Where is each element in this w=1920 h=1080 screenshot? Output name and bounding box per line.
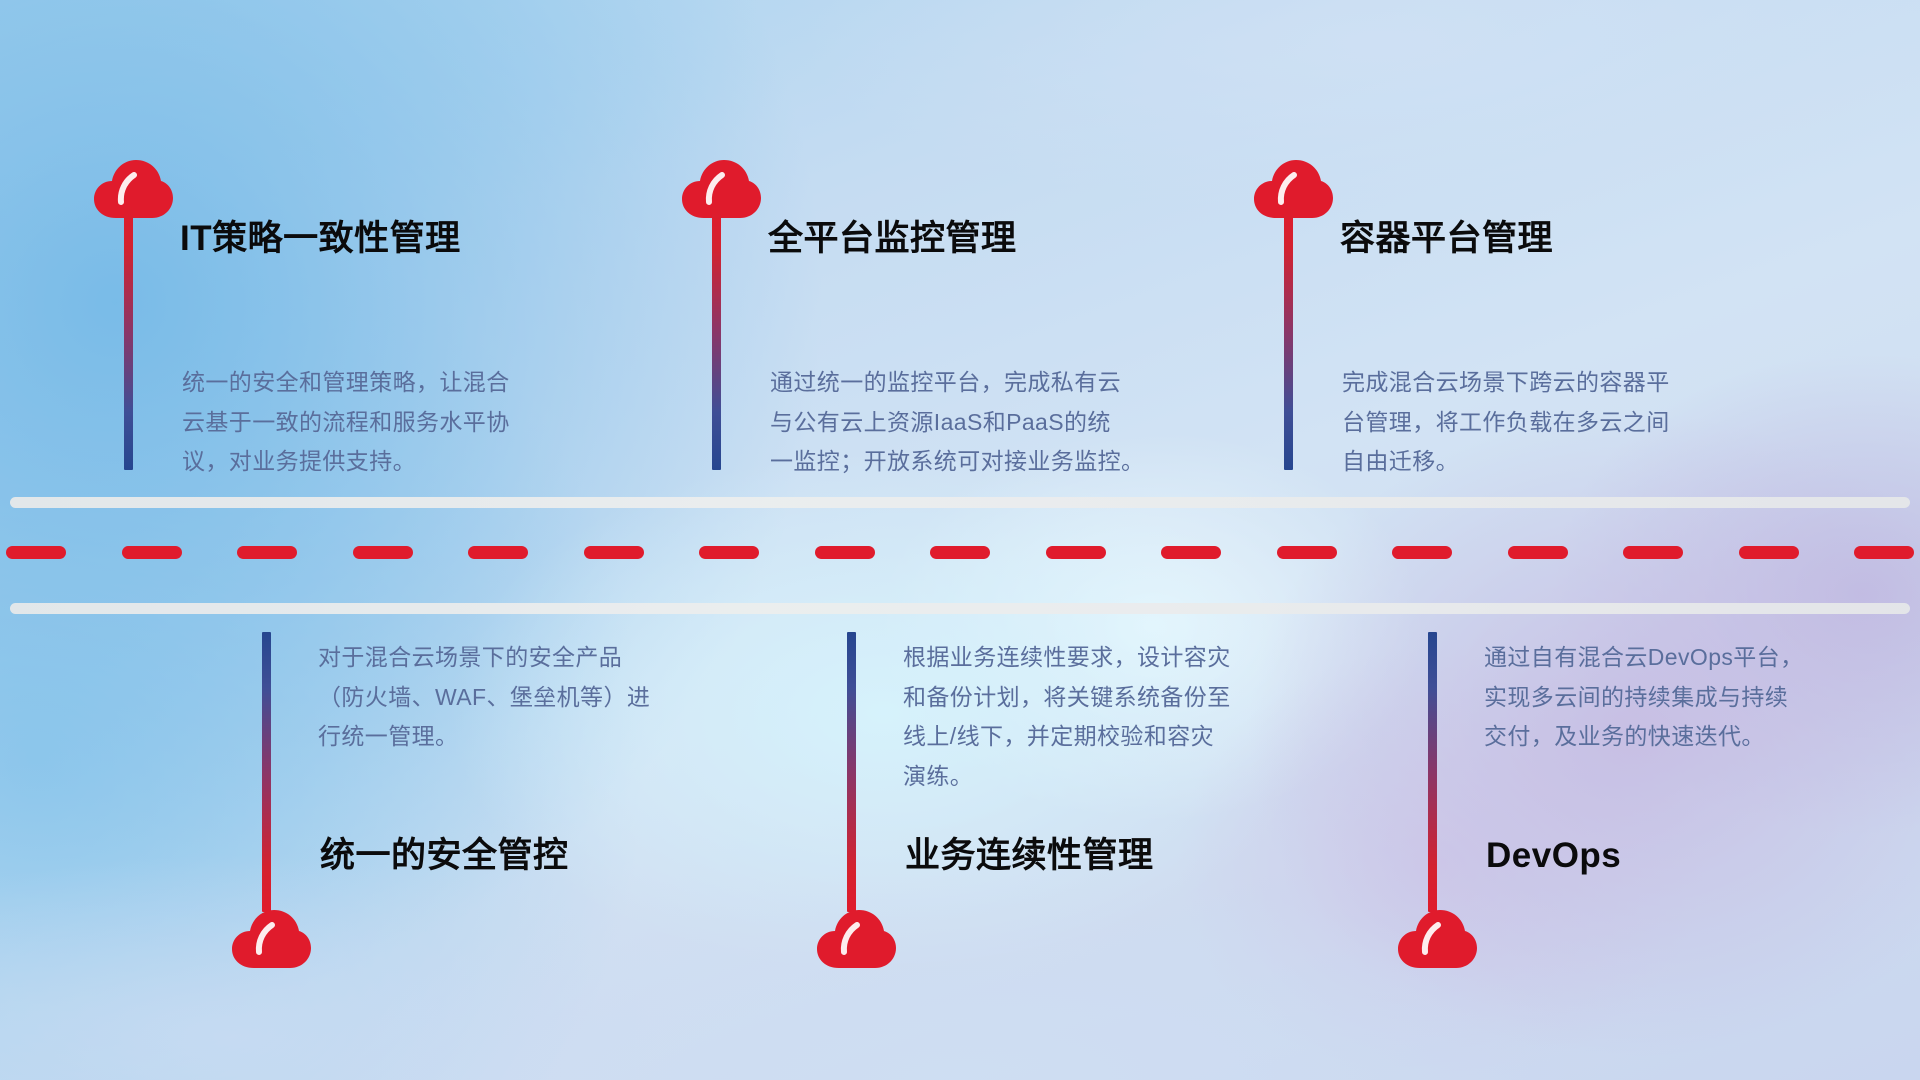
column-title: 统一的安全管控 bbox=[320, 835, 569, 877]
divider-rail-top bbox=[10, 497, 1910, 508]
connector-stem bbox=[124, 205, 133, 470]
divider-dash bbox=[584, 546, 644, 559]
divider-dashed-line bbox=[0, 545, 1920, 559]
divider-dash bbox=[353, 546, 413, 559]
divider-dash bbox=[1161, 546, 1221, 559]
connector-stem bbox=[712, 205, 721, 470]
connector-stem bbox=[1428, 632, 1437, 912]
connector-stem bbox=[847, 632, 856, 912]
divider-dash bbox=[468, 546, 528, 559]
divider-dash bbox=[122, 546, 182, 559]
connector-stem bbox=[262, 632, 271, 912]
column-title: IT策略一致性管理 bbox=[180, 218, 461, 260]
divider-dash bbox=[6, 546, 66, 559]
divider-dash bbox=[1623, 546, 1683, 559]
column-title: 全平台监控管理 bbox=[768, 218, 1017, 260]
divider-dash bbox=[1277, 546, 1337, 559]
cloud-icon bbox=[230, 908, 312, 970]
cloud-icon bbox=[1252, 158, 1334, 220]
divider-dash bbox=[1854, 546, 1914, 559]
divider-rail-bottom bbox=[10, 603, 1910, 614]
cloud-icon bbox=[92, 158, 174, 220]
divider-dash bbox=[1046, 546, 1106, 559]
column-body-text: 根据业务连续性要求，设计容灾 和备份计划，将关键系统备份至 线上/线下，并定期校… bbox=[903, 638, 1343, 796]
divider-dash bbox=[1392, 546, 1452, 559]
column-title: 业务连续性管理 bbox=[905, 835, 1154, 877]
connector-stem bbox=[1284, 205, 1293, 470]
divider-dash bbox=[815, 546, 875, 559]
column-title: DevOps bbox=[1486, 835, 1621, 877]
divider-dash bbox=[930, 546, 990, 559]
cloud-icon bbox=[1396, 908, 1478, 970]
column-body-text: 完成混合云场景下跨云的容器平 台管理，将工作负载在多云之间 自由迁移。 bbox=[1342, 363, 1802, 482]
divider-dash bbox=[699, 546, 759, 559]
column-body-text: 统一的安全和管理策略，让混合 云基于一致的流程和服务水平协 议，对业务提供支持。 bbox=[182, 363, 612, 482]
cloud-icon bbox=[680, 158, 762, 220]
column-body-text: 通过统一的监控平台，完成私有云 与公有云上资源IaaS和PaaS的统 一监控；开… bbox=[770, 363, 1240, 482]
cloud-icon bbox=[815, 908, 897, 970]
infographic-canvas: IT策略一致性管理 统一的安全和管理策略，让混合 云基于一致的流程和服务水平协 … bbox=[0, 0, 1920, 1080]
divider-dash bbox=[1508, 546, 1568, 559]
column-body-text: 对于混合云场景下的安全产品 （防火墙、WAF、堡垒机等）进 行统一管理。 bbox=[318, 638, 748, 757]
divider-dash bbox=[1739, 546, 1799, 559]
column-title: 容器平台管理 bbox=[1340, 218, 1553, 260]
divider-dash bbox=[237, 546, 297, 559]
column-body-text: 通过自有混合云DevOps平台， 实现多云间的持续集成与持续 交付，及业务的快速… bbox=[1484, 638, 1914, 757]
